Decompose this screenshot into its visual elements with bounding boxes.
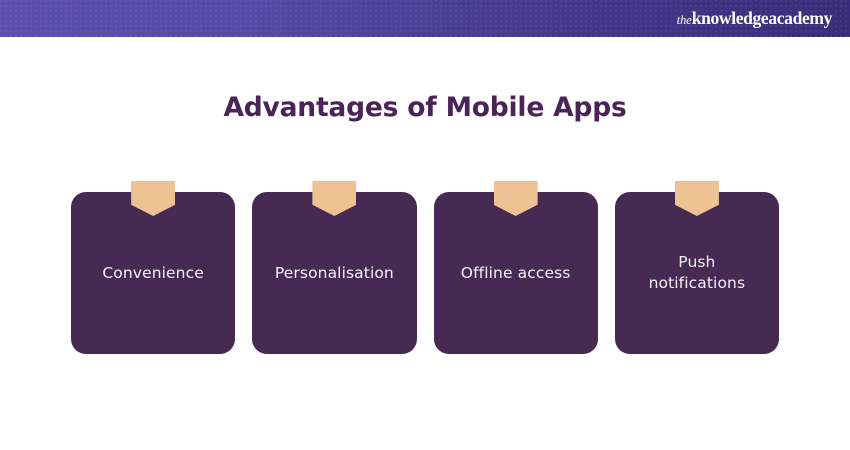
advantage-card-label: Offline access [451,263,581,284]
advantage-card-label: Push notifications [639,252,756,294]
advantage-card-label: Convenience [92,263,214,284]
brand-name-text: knowledgeacademy [692,8,832,28]
page-title: Advantages of Mobile Apps [0,92,850,123]
advantage-card-offline-access[interactable]: Offline access [434,192,598,354]
advantage-card-convenience[interactable]: Convenience [71,192,235,354]
advantage-card-personalisation[interactable]: Personalisation [252,192,416,354]
advantages-card-row: Convenience Personalisation Offline acce… [71,192,779,354]
brand-logo: theknowledgeacademy [677,10,832,28]
bookmark-ribbon-icon [494,181,538,216]
advantage-card-label: Personalisation [265,263,404,284]
page-header: theknowledgeacademy [0,0,850,37]
bookmark-ribbon-icon [312,181,356,216]
advantage-card-push-notifications[interactable]: Push notifications [615,192,779,354]
bookmark-ribbon-icon [131,181,175,216]
bookmark-ribbon-icon [675,181,719,216]
brand-the-text: the [677,13,692,27]
